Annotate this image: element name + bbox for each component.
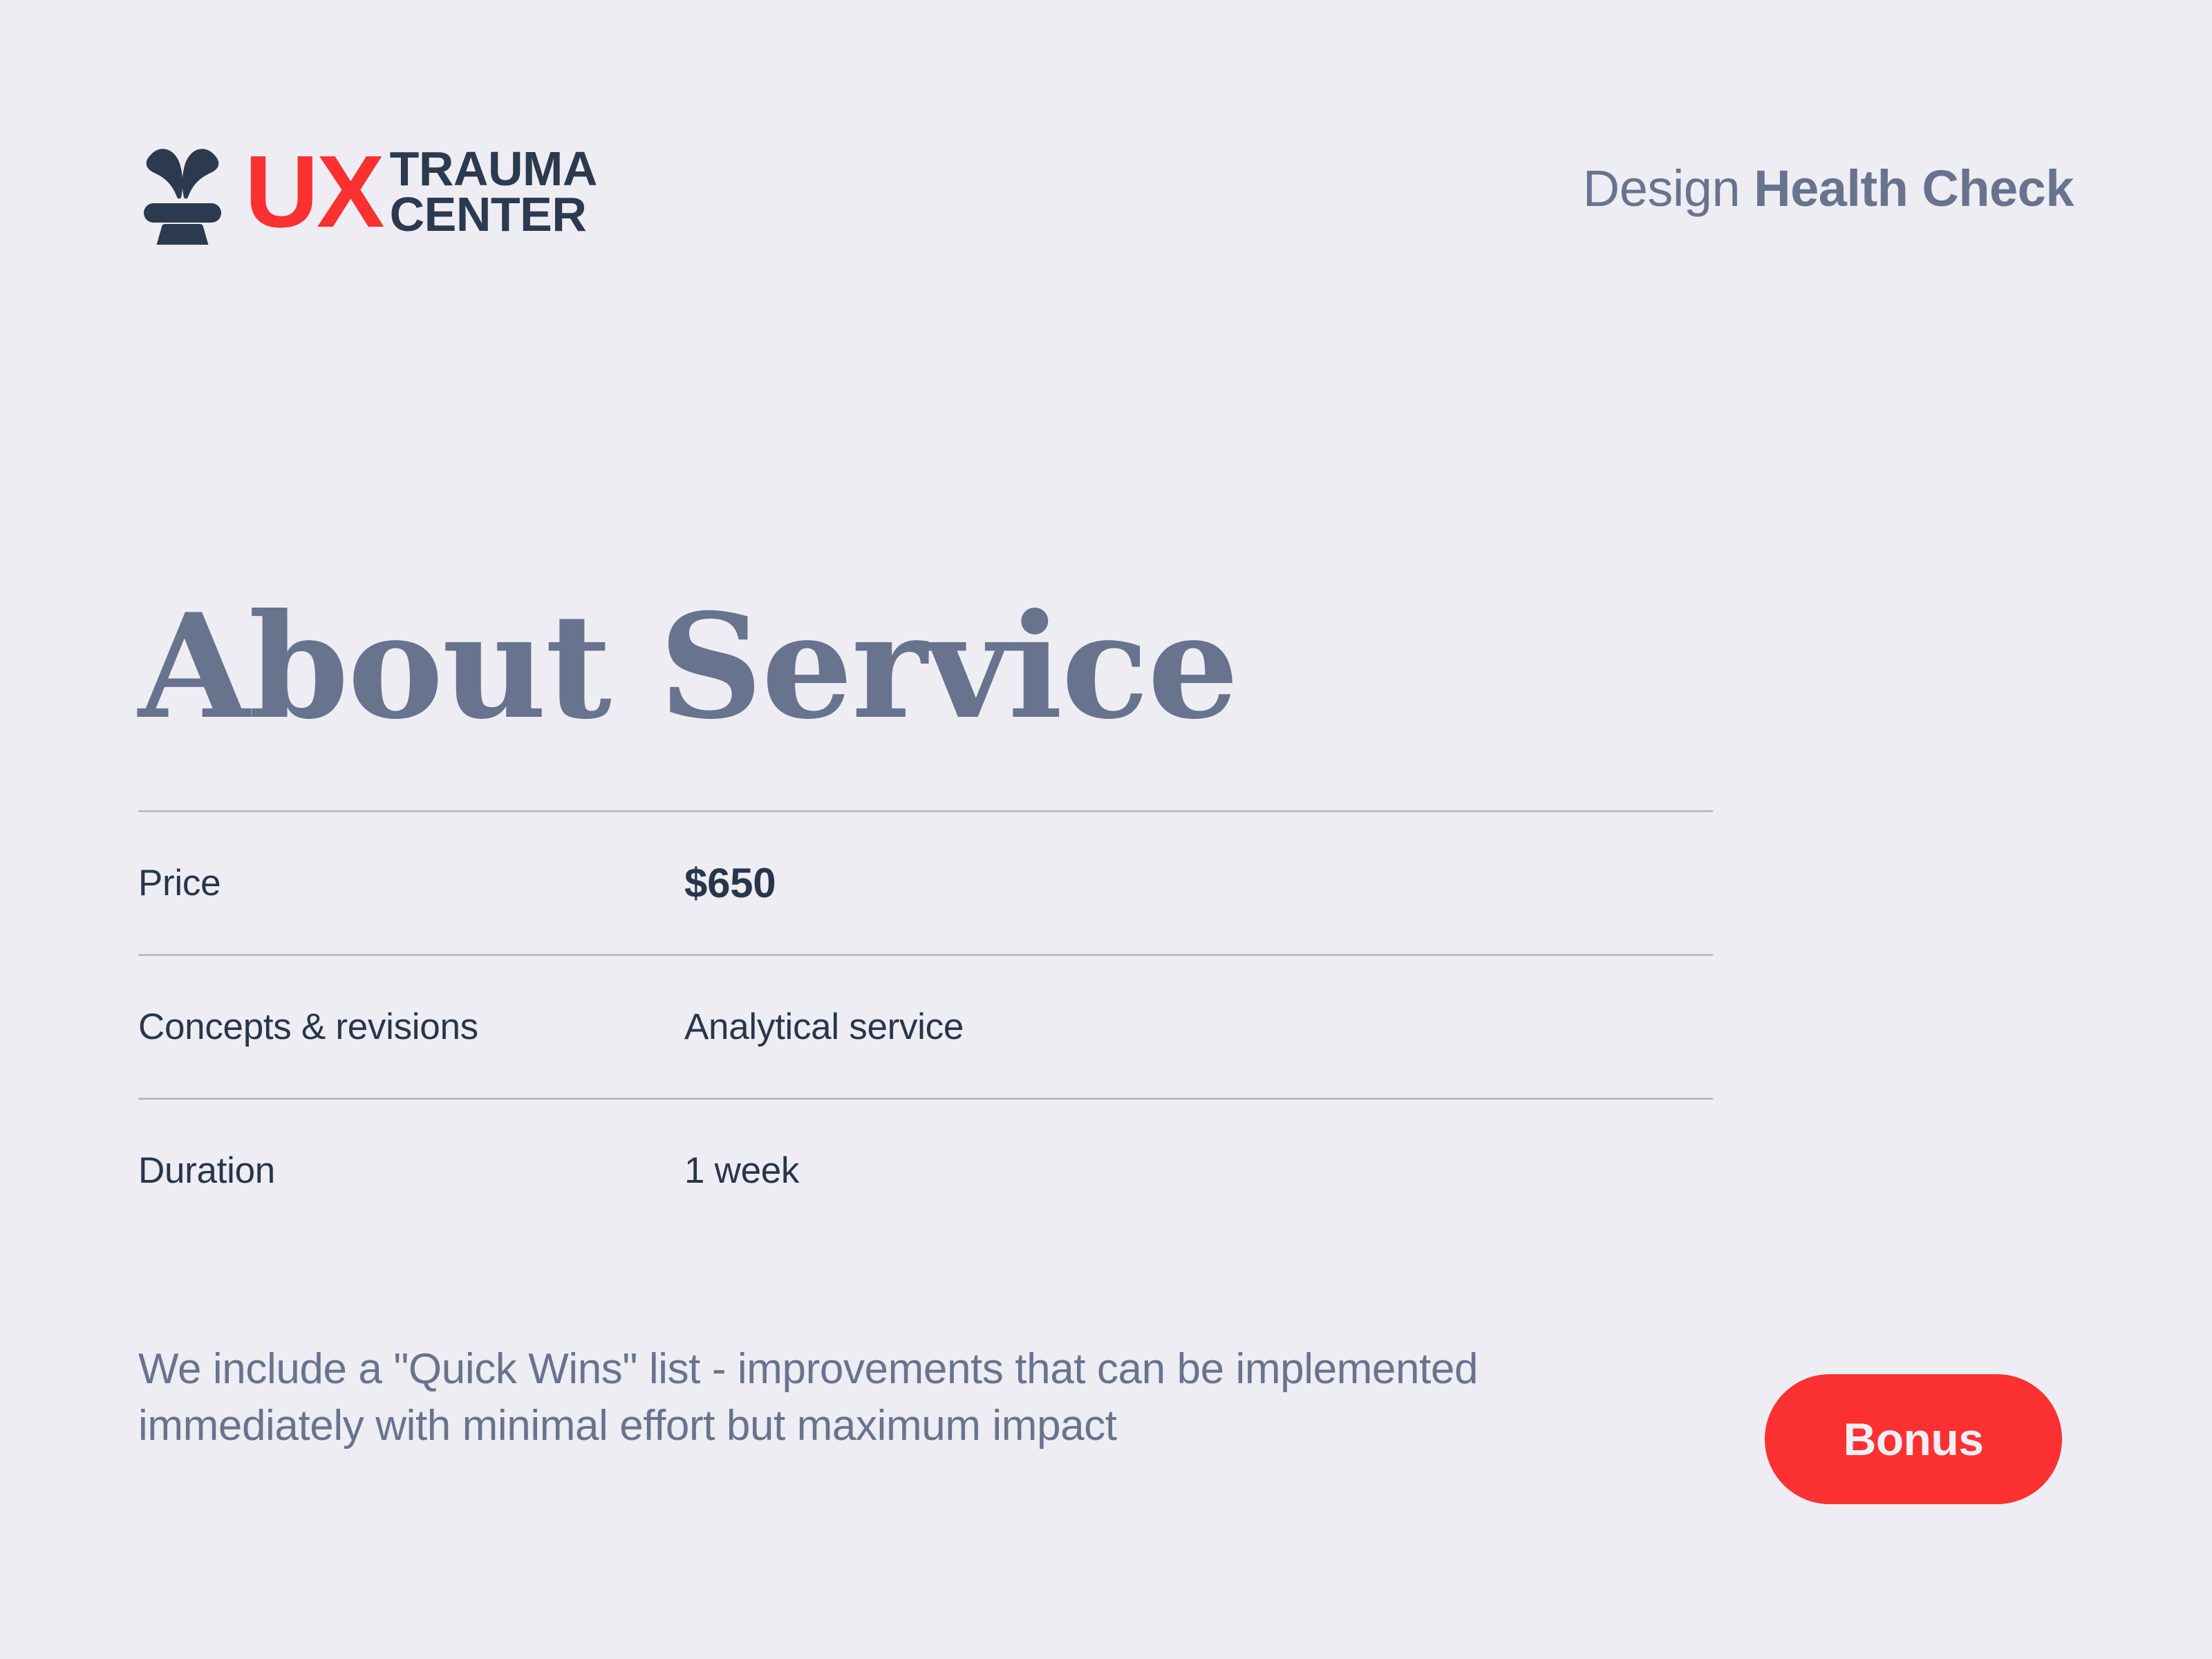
logo-ux-text: UX: [245, 145, 383, 239]
page-header: UX TRAUMA CENTER Design Health Check: [138, 137, 2074, 261]
table-row: Concepts & revisions Analytical service: [138, 954, 1713, 1098]
spec-value-concepts-revisions: Analytical service: [684, 1006, 964, 1048]
logo-line-trauma: TRAUMA: [390, 147, 597, 192]
service-name-header: Design Health Check: [1583, 137, 2074, 218]
brand-logo[interactable]: UX TRAUMA CENTER: [138, 137, 597, 247]
table-row: Duration 1 week: [138, 1098, 1713, 1241]
magic-hat-icon: [138, 140, 227, 245]
spec-label-duration: Duration: [138, 1150, 684, 1192]
service-name-emphasis: Health Check: [1754, 160, 2074, 217]
spec-label-price: Price: [138, 862, 684, 904]
spec-value-duration: 1 week: [684, 1150, 799, 1192]
logo-wordmark: UX TRAUMA CENTER: [245, 145, 597, 239]
service-spec-table: Price $650 Concepts & revisions Analytic…: [138, 810, 1713, 1241]
bonus-button[interactable]: Bonus: [1765, 1374, 2062, 1504]
spec-label-concepts-revisions: Concepts & revisions: [138, 1006, 684, 1048]
spec-value-price: $650: [684, 859, 776, 907]
logo-line-center: CENTER: [390, 192, 597, 238]
page-title: About Service: [138, 595, 1237, 739]
logo-name-stack: TRAUMA CENTER: [390, 147, 597, 238]
service-description: We include a "Quick Wins" list - improve…: [138, 1341, 1659, 1454]
table-row: Price $650: [138, 810, 1713, 954]
service-name-prefix: Design: [1583, 160, 1740, 217]
